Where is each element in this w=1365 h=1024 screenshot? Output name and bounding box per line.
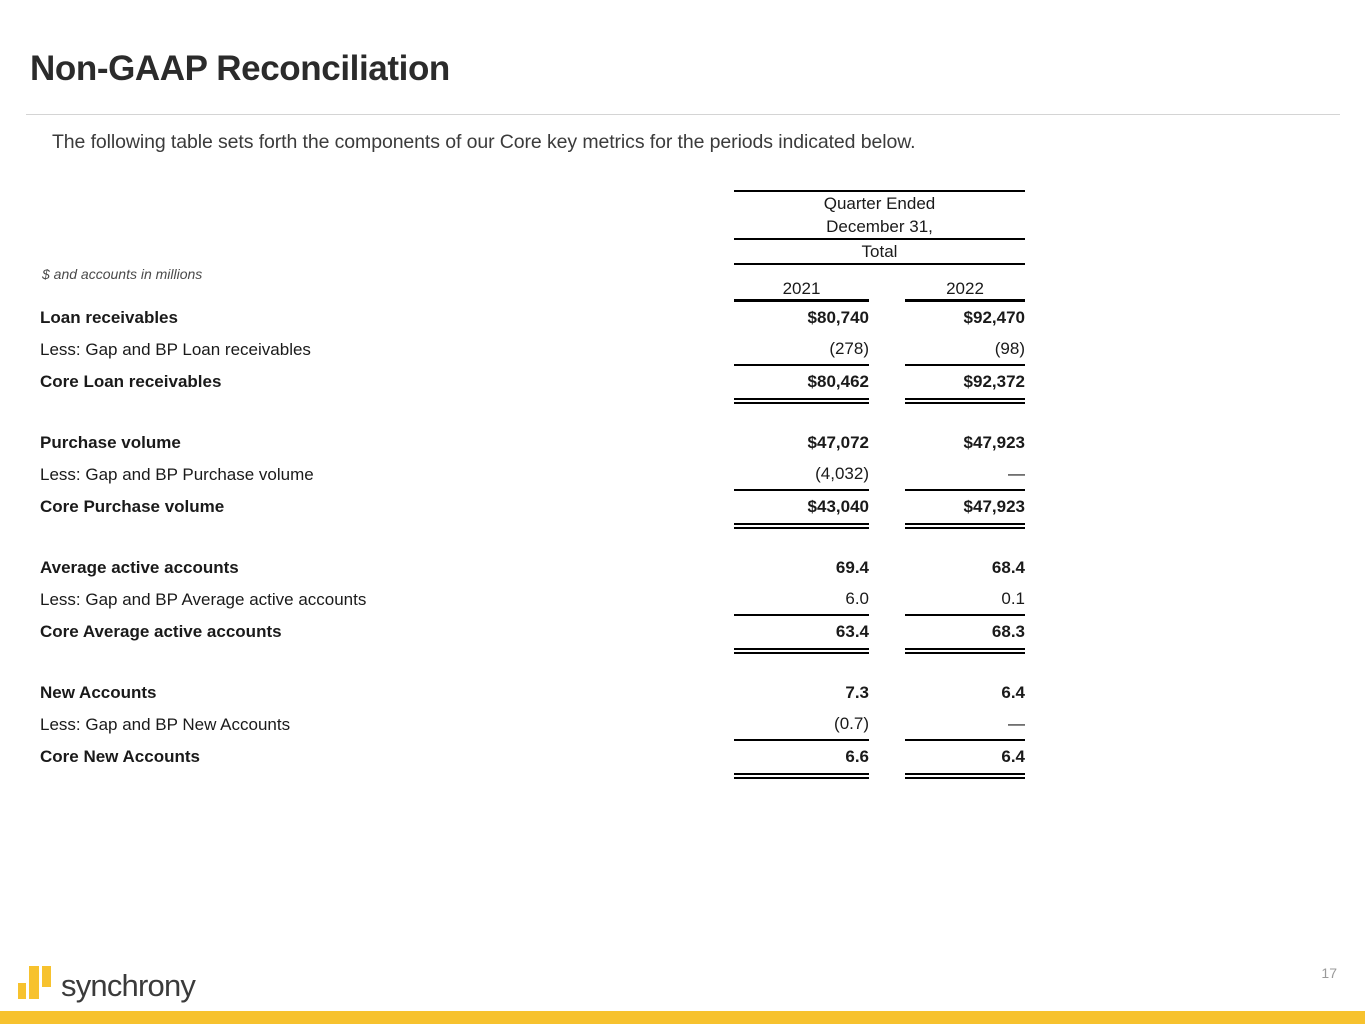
header-gap-row: [40, 264, 1025, 279]
table-header-period-row2: December 31,: [40, 215, 1025, 239]
table-header-year-row: 2021 2022: [40, 279, 1025, 301]
table-row: Core Average active accounts63.468.3: [40, 615, 1025, 647]
column-gap: [869, 615, 905, 647]
synchrony-bars-icon: [18, 963, 54, 999]
row-label: Less: Gap and BP Purchase volume: [40, 458, 734, 490]
section-gap-row: [40, 397, 1025, 427]
footer-accent-bar: [0, 1011, 1365, 1024]
header-year-2022: 2022: [905, 279, 1025, 301]
column-gap: [869, 458, 905, 490]
row-value-2021: (0.7): [734, 708, 869, 740]
row-value-2022: 6.4: [905, 677, 1025, 708]
column-gap: [869, 677, 905, 708]
row-label: Average active accounts: [40, 552, 734, 583]
column-gap: [869, 365, 905, 397]
column-gap: [869, 583, 905, 615]
logo-bar-tall: [29, 966, 39, 999]
page-number: 17: [1321, 965, 1337, 981]
column-gap: [869, 333, 905, 365]
brand-logo: synchrony: [18, 955, 195, 999]
header-spacer: [40, 215, 734, 239]
table-row: Core New Accounts6.66.4: [40, 740, 1025, 772]
section-gap-row: [40, 647, 1025, 677]
row-value-2021: (4,032): [734, 458, 869, 490]
row-value-2022: $92,372: [905, 365, 1025, 397]
row-value-2022: 0.1: [905, 583, 1025, 615]
row-label: Loan receivables: [40, 301, 734, 334]
row-label: Core Average active accounts: [40, 615, 734, 647]
row-value-2021: $80,462: [734, 365, 869, 397]
row-value-2021: 6.6: [734, 740, 869, 772]
table-row: Less: Gap and BP Purchase volume(4,032)—: [40, 458, 1025, 490]
reconciliation-table-wrapper: Quarter Ended December 31, Total 2021 20…: [40, 190, 1000, 772]
section-gap-row: [40, 522, 1025, 552]
row-value-2021: 6.0: [734, 583, 869, 615]
row-value-2022: 68.3: [905, 615, 1025, 647]
column-gap: [869, 740, 905, 772]
row-label: New Accounts: [40, 677, 734, 708]
row-value-2022: (98): [905, 333, 1025, 365]
row-label: Purchase volume: [40, 427, 734, 458]
table-row: Less: Gap and BP New Accounts(0.7)—: [40, 708, 1025, 740]
header-spacer: [40, 191, 734, 215]
column-gap: [869, 301, 905, 334]
header-spacer: [40, 279, 734, 301]
header-spacer: [40, 239, 734, 264]
row-label: Core Purchase volume: [40, 490, 734, 522]
page-subtitle: The following table sets forth the compo…: [52, 131, 915, 154]
table-row: Purchase volume$47,072$47,923: [40, 427, 1025, 458]
row-value-2021: 7.3: [734, 677, 869, 708]
row-value-2022: 68.4: [905, 552, 1025, 583]
table-row: Less: Gap and BP Loan receivables(278)(9…: [40, 333, 1025, 365]
row-value-2021: $80,740: [734, 301, 869, 334]
row-value-2021: (278): [734, 333, 869, 365]
table-row: Core Loan receivables$80,462$92,372: [40, 365, 1025, 397]
column-gap: [869, 708, 905, 740]
table-header-group-row: Total: [40, 239, 1025, 264]
table-row: Average active accounts69.468.4: [40, 552, 1025, 583]
row-value-2022: —: [905, 708, 1025, 740]
header-period-line1: Quarter Ended: [734, 191, 1025, 215]
logo-bar-medium: [42, 966, 51, 987]
column-gap: [869, 552, 905, 583]
title-divider: [26, 114, 1340, 115]
row-value-2022: 6.4: [905, 740, 1025, 772]
row-label: Less: Gap and BP Average active accounts: [40, 583, 734, 615]
row-value-2022: $47,923: [905, 427, 1025, 458]
table-row: New Accounts7.36.4: [40, 677, 1025, 708]
logo-bar-short: [18, 983, 26, 999]
row-label: Core Loan receivables: [40, 365, 734, 397]
row-label: Core New Accounts: [40, 740, 734, 772]
brand-wordmark: synchrony: [61, 970, 195, 1002]
column-gap: [869, 427, 905, 458]
row-label: Less: Gap and BP Loan receivables: [40, 333, 734, 365]
row-value-2022: —: [905, 458, 1025, 490]
row-value-2021: $43,040: [734, 490, 869, 522]
page-title: Non-GAAP Reconciliation: [30, 50, 450, 89]
row-value-2021: 69.4: [734, 552, 869, 583]
row-value-2021: 63.4: [734, 615, 869, 647]
header-period-line2: December 31,: [734, 215, 1025, 239]
reconciliation-table: Quarter Ended December 31, Total 2021 20…: [40, 190, 1025, 772]
row-value-2022: $92,470: [905, 301, 1025, 334]
column-gap: [869, 490, 905, 522]
row-label: Less: Gap and BP New Accounts: [40, 708, 734, 740]
header-year-2021: 2021: [734, 279, 869, 301]
row-value-2021: $47,072: [734, 427, 869, 458]
table-row: Loan receivables$80,740$92,470: [40, 301, 1025, 334]
header-group-total: Total: [734, 239, 1025, 264]
row-value-2022: $47,923: [905, 490, 1025, 522]
table-header-period-row: Quarter Ended: [40, 191, 1025, 215]
table-row: Core Purchase volume$43,040$47,923: [40, 490, 1025, 522]
table-row: Less: Gap and BP Average active accounts…: [40, 583, 1025, 615]
